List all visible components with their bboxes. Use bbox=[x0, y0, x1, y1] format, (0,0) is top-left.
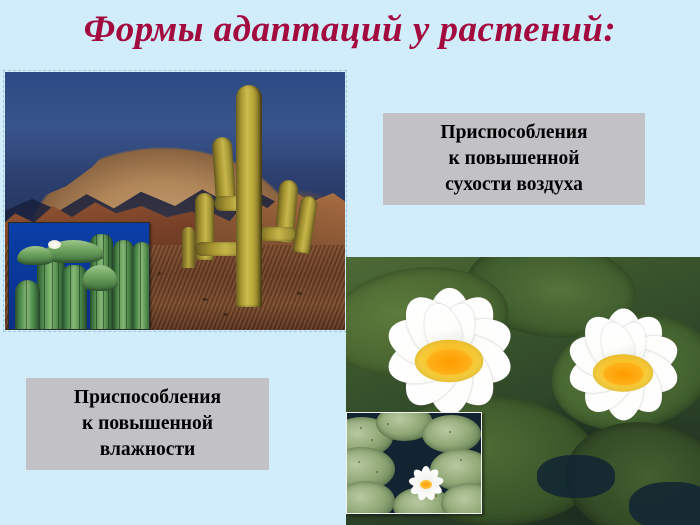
slide-canvas: Формы адаптаций у растений: bbox=[0, 0, 700, 525]
open-water bbox=[629, 482, 700, 525]
lily-pads-inset bbox=[346, 412, 482, 514]
caption-wet-line-1: Приспособления bbox=[74, 385, 221, 411]
cactus-closeup-inset bbox=[8, 222, 150, 330]
inset-lily-flower bbox=[406, 465, 446, 503]
saguaro-cactus-trunk bbox=[236, 85, 262, 307]
cactus-column bbox=[132, 242, 150, 330]
caption-high-humidity: Приспособления к повышенной влажности bbox=[26, 378, 269, 470]
cactus-column bbox=[15, 280, 40, 330]
lily-stamen bbox=[426, 349, 472, 375]
cactus-crest bbox=[17, 246, 53, 265]
background-cactus bbox=[182, 227, 196, 268]
cactus-crest bbox=[82, 265, 118, 290]
caption-dry-line-3: сухости воздуха bbox=[445, 172, 583, 198]
water-lily-flower bbox=[555, 315, 690, 431]
page-title: Формы адаптаций у растений: bbox=[0, 8, 700, 51]
caption-dry-air: Приспособления к повышенной сухости возд… bbox=[383, 113, 645, 205]
caption-dry-line-2: к повышенной bbox=[449, 146, 580, 172]
lily-stamen bbox=[603, 362, 644, 385]
saguaro-cactus-desert-photo bbox=[5, 72, 345, 330]
water-lily-flower bbox=[372, 295, 525, 427]
cactus-arm-joint bbox=[257, 227, 298, 241]
caption-wet-line-3: влажности bbox=[100, 437, 196, 463]
caption-dry-line-1: Приспособления bbox=[440, 120, 587, 146]
caption-wet-line-2: к повышенной bbox=[82, 411, 213, 437]
cactus-column bbox=[37, 257, 65, 330]
open-water bbox=[537, 455, 615, 498]
white-water-lily-photo bbox=[346, 257, 700, 525]
